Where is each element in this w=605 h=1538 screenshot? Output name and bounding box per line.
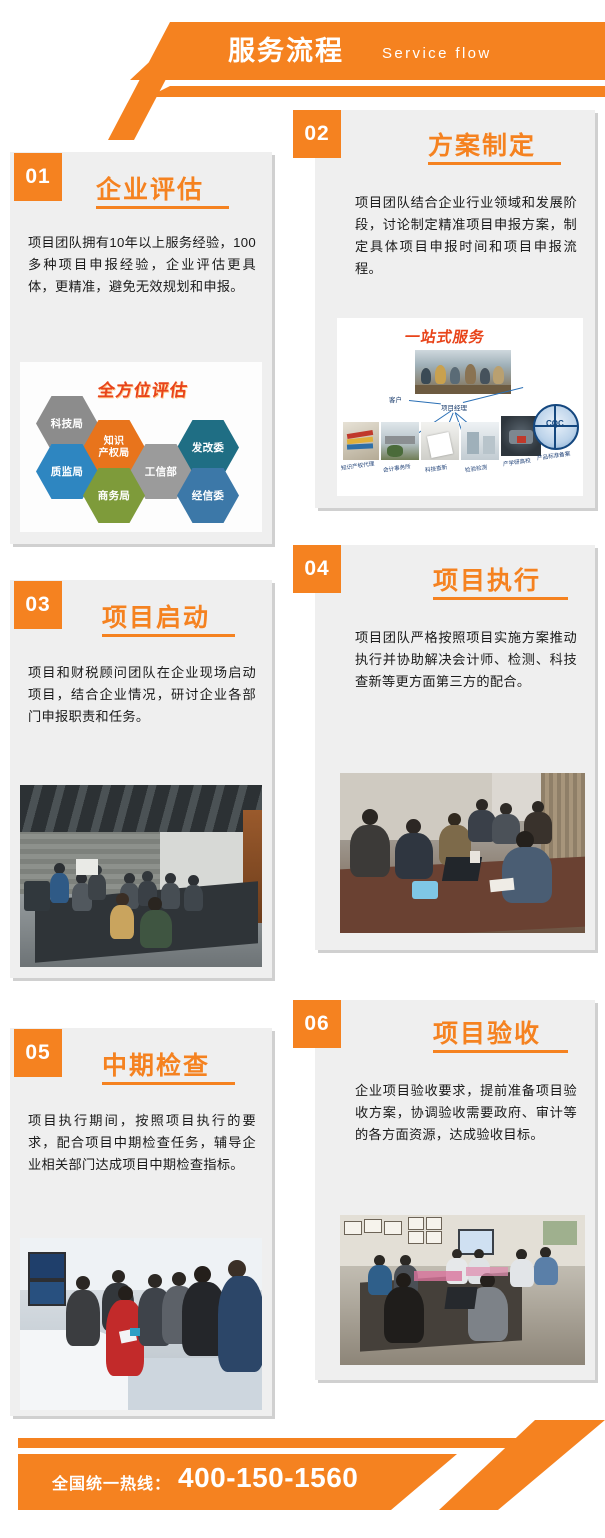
- card-text-04: 项目团队严格按照项目实施方案推动执行并协助解决会计师、检测、科技查新等更方面第三…: [355, 627, 577, 693]
- collage-photo-accounting: [381, 422, 419, 460]
- collage-photo-inspection: [461, 422, 499, 460]
- card-photo-05: [20, 1238, 262, 1410]
- card-title-04: 项目执行: [433, 561, 541, 597]
- collage-arrow-1: [409, 400, 441, 405]
- step-card-01: 企业评估 项目团队拥有10年以上服务经验，100多种项目申报经验，企业评估更具体…: [10, 152, 272, 544]
- card-photo-06: [340, 1215, 585, 1365]
- collage-caption-standard: 产品标准备案: [536, 449, 570, 462]
- card-title-underline-05: [102, 1082, 235, 1085]
- card-title-01: 企业评估: [96, 170, 204, 206]
- step-card-06: 项目验收 企业项目验收要求，提前准备项目验收方案，协调验收需要政府、审计等的各方…: [315, 1000, 595, 1380]
- card-text-03: 项目和财税顾问团队在企业现场启动项目，结合企业情况，研讨企业各部门申报职责和任务…: [28, 662, 256, 728]
- card-badge-04: 04: [293, 545, 341, 593]
- page-header: 服务流程 Service flow: [0, 0, 605, 112]
- card-badge-05: 05: [14, 1029, 62, 1077]
- card-text-05: 项目执行期间，按照项目执行的要求，配合项目中期检查任务，辅导企业相关部门达成项目…: [28, 1110, 256, 1176]
- card-title-underline-02: [428, 162, 561, 165]
- seal-label: CQC: [546, 419, 564, 428]
- collage-caption-university: 产学研高校: [502, 456, 531, 468]
- card-text-02: 项目团队结合企业行业领域和发展阶段，讨论制定精准项目申报方案，制定具体项目申报时…: [355, 192, 577, 280]
- collage-photo-tech-search: [421, 422, 459, 460]
- card-title-underline-01: [96, 206, 229, 209]
- collage-caption-inspection: 检验检测: [464, 463, 487, 474]
- card-badge-01: 01: [14, 153, 62, 201]
- collage-photo-ip: [343, 422, 379, 460]
- one-stop-service-collage: 一站式服务 客户 项目经理: [337, 318, 583, 496]
- card-title-03: 项目启动: [102, 598, 210, 634]
- hotline-label: 全国统一热线：: [52, 1470, 171, 1494]
- card-text-06: 企业项目验收要求，提前准备项目验收方案，协调验收需要政府、审计等的各方面资源，达…: [355, 1080, 577, 1146]
- card-title-05: 中期检查: [102, 1046, 210, 1082]
- footer-stripe: [18, 1438, 563, 1448]
- collage-caption-ip: 知识产权代理: [340, 459, 374, 472]
- card-badge-03: 03: [14, 581, 62, 629]
- card-title-02: 方案制定: [428, 126, 536, 162]
- step-card-04: 项目执行 项目团队严格按照项目实施方案推动执行并协助解决会计师、检测、科技查新等…: [315, 545, 595, 950]
- header-band: [130, 22, 605, 80]
- card-title-underline-03: [102, 634, 235, 637]
- collage-label-manager: 项目经理: [441, 402, 467, 412]
- collage-caption-accounting: 会计事务所: [382, 462, 411, 474]
- hex-diagram-title: 全方位评估: [96, 376, 190, 401]
- collage-title: 一站式服务: [403, 326, 487, 347]
- collage-certification-seal: CQC: [533, 404, 579, 450]
- step-card-05: 中期检查 项目执行期间，按照项目执行的要求，配合项目中期检查任务，辅导企业相关部…: [10, 1028, 272, 1416]
- step-card-03: 项目启动 项目和财税顾问团队在企业现场启动项目，结合企业情况，研讨企业各部门申报…: [10, 580, 272, 978]
- card-text-01: 项目团队拥有10年以上服务经验，100多种项目申报经验，企业评估更具体，更精准，…: [28, 232, 256, 298]
- card-title-underline-06: [433, 1050, 568, 1053]
- assessment-hex-diagram: 全方位评估 科技局 知识产权局 发改委 质监局 工信部 商务局 经信委: [20, 362, 262, 532]
- collage-photo-meeting: [415, 350, 511, 394]
- step-card-02: 方案制定 项目团队结合企业行业领域和发展阶段，讨论制定精准项目申报方案，制定具体…: [315, 110, 595, 508]
- card-badge-02: 02: [293, 110, 341, 158]
- page-subtitle: Service flow: [382, 42, 492, 66]
- card-badge-06: 06: [293, 1000, 341, 1048]
- header-stripe: [148, 86, 605, 97]
- card-photo-04: [340, 773, 585, 933]
- page-footer: 全国统一热线： 400-150-1560: [0, 1400, 605, 1538]
- card-photo-03: [20, 785, 262, 967]
- collage-caption-tech-search: 科技查新: [424, 463, 447, 474]
- hotline-number[interactable]: 400-150-1560: [178, 1462, 358, 1494]
- card-title-06: 项目验收: [433, 1014, 541, 1050]
- page-title: 服务流程: [228, 30, 344, 72]
- collage-label-client: 客户: [389, 394, 402, 404]
- card-title-underline-04: [433, 597, 568, 600]
